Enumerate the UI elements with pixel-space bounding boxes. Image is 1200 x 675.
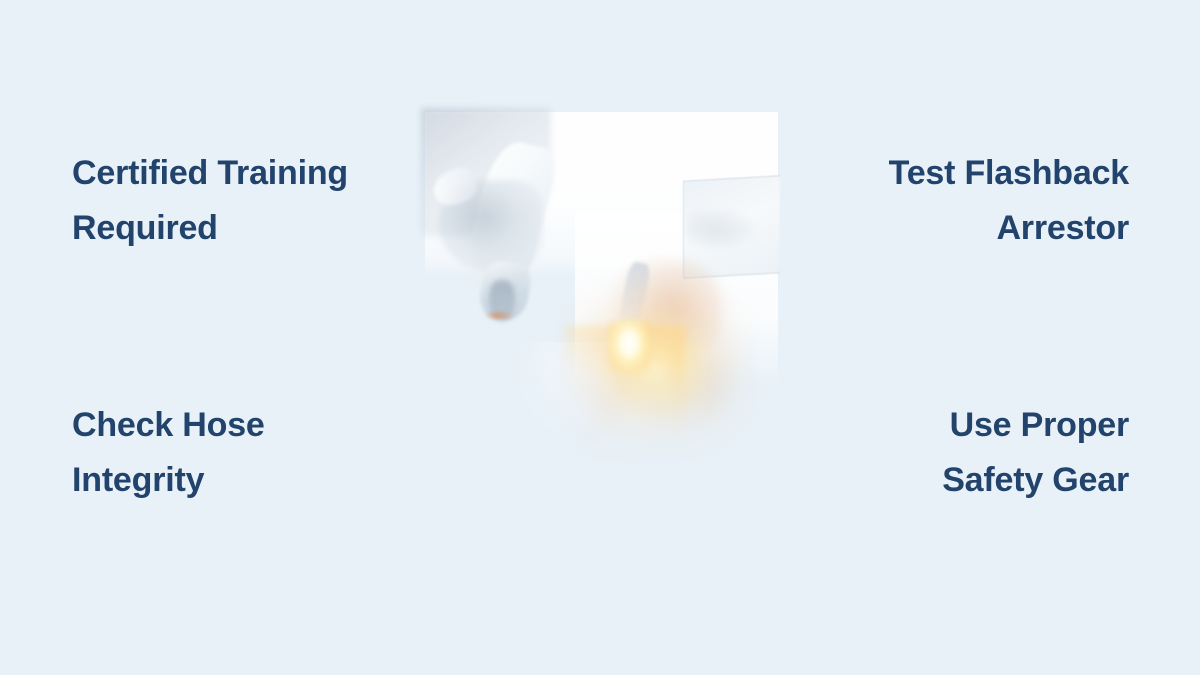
callout-check-hose-integrity: Check Hose Integrity — [72, 398, 265, 508]
callout-test-flashback-arrestor: Test Flashback Arrestor — [889, 146, 1129, 256]
photo-bottom-fade — [415, 362, 788, 480]
callout-use-proper-safety-gear: Use Proper Safety Gear — [942, 398, 1129, 508]
welding-torch-spark-photo — [425, 112, 778, 470]
glove-tip-highlight — [484, 312, 512, 319]
slide-canvas: Certified Training Required Test Flashba… — [0, 0, 1200, 675]
workpiece-shadow — [687, 208, 757, 250]
callout-certified-training-required: Certified Training Required — [72, 146, 348, 256]
